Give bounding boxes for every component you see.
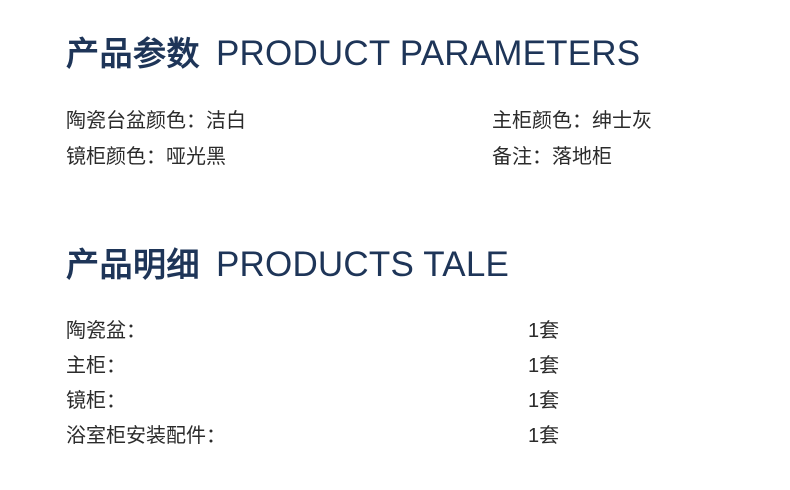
detail-item-quantity-installation-accessories: 1套 — [528, 425, 559, 447]
parameter-basin-color: 陶瓷台盆颜色：洁白 — [66, 110, 492, 132]
detail-item-label-mirror-cabinet: 镜柜： — [66, 390, 528, 412]
section-heading-parameters-cn: 产品参数 — [66, 37, 200, 70]
parameter-remark: 备注：落地柜 — [492, 146, 726, 168]
detail-item-label-main-cabinet: 主柜： — [66, 355, 528, 377]
parameter-row: 镜柜颜色：哑光黑 备注：落地柜 — [66, 146, 726, 182]
section-heading-details: 产品明细 PRODUCTS TALE — [66, 247, 509, 282]
section-heading-parameters-en: PRODUCT PARAMETERS — [216, 36, 640, 71]
parameter-grid: 陶瓷台盆颜色：洁白 主柜颜色：绅士灰 镜柜颜色：哑光黑 备注：落地柜 — [66, 110, 726, 182]
product-spec-page: 产品参数 PRODUCT PARAMETERS 陶瓷台盆颜色：洁白 主柜颜色：绅… — [0, 0, 790, 490]
list-item: 主柜： 1套 — [66, 355, 606, 390]
parameter-main-cabinet-color: 主柜颜色：绅士灰 — [492, 110, 726, 132]
list-item: 镜柜： 1套 — [66, 390, 606, 425]
list-item: 浴室柜安装配件： 1套 — [66, 425, 606, 460]
section-heading-parameters: 产品参数 PRODUCT PARAMETERS — [66, 36, 640, 71]
parameter-mirror-cabinet-color: 镜柜颜色：哑光黑 — [66, 146, 492, 168]
section-heading-details-cn: 产品明细 — [66, 248, 200, 281]
detail-item-quantity-mirror-cabinet: 1套 — [528, 390, 559, 412]
detail-item-label-installation-accessories: 浴室柜安装配件： — [66, 425, 528, 447]
detail-item-label-ceramic-basin: 陶瓷盆： — [66, 320, 528, 342]
product-detail-list: 陶瓷盆： 1套 主柜： 1套 镜柜： 1套 浴室柜安装配件： 1套 — [66, 320, 606, 460]
list-item: 陶瓷盆： 1套 — [66, 320, 606, 355]
parameter-row: 陶瓷台盆颜色：洁白 主柜颜色：绅士灰 — [66, 110, 726, 146]
section-heading-details-en: PRODUCTS TALE — [216, 247, 509, 282]
detail-item-quantity-main-cabinet: 1套 — [528, 355, 559, 377]
detail-item-quantity-ceramic-basin: 1套 — [528, 320, 559, 342]
